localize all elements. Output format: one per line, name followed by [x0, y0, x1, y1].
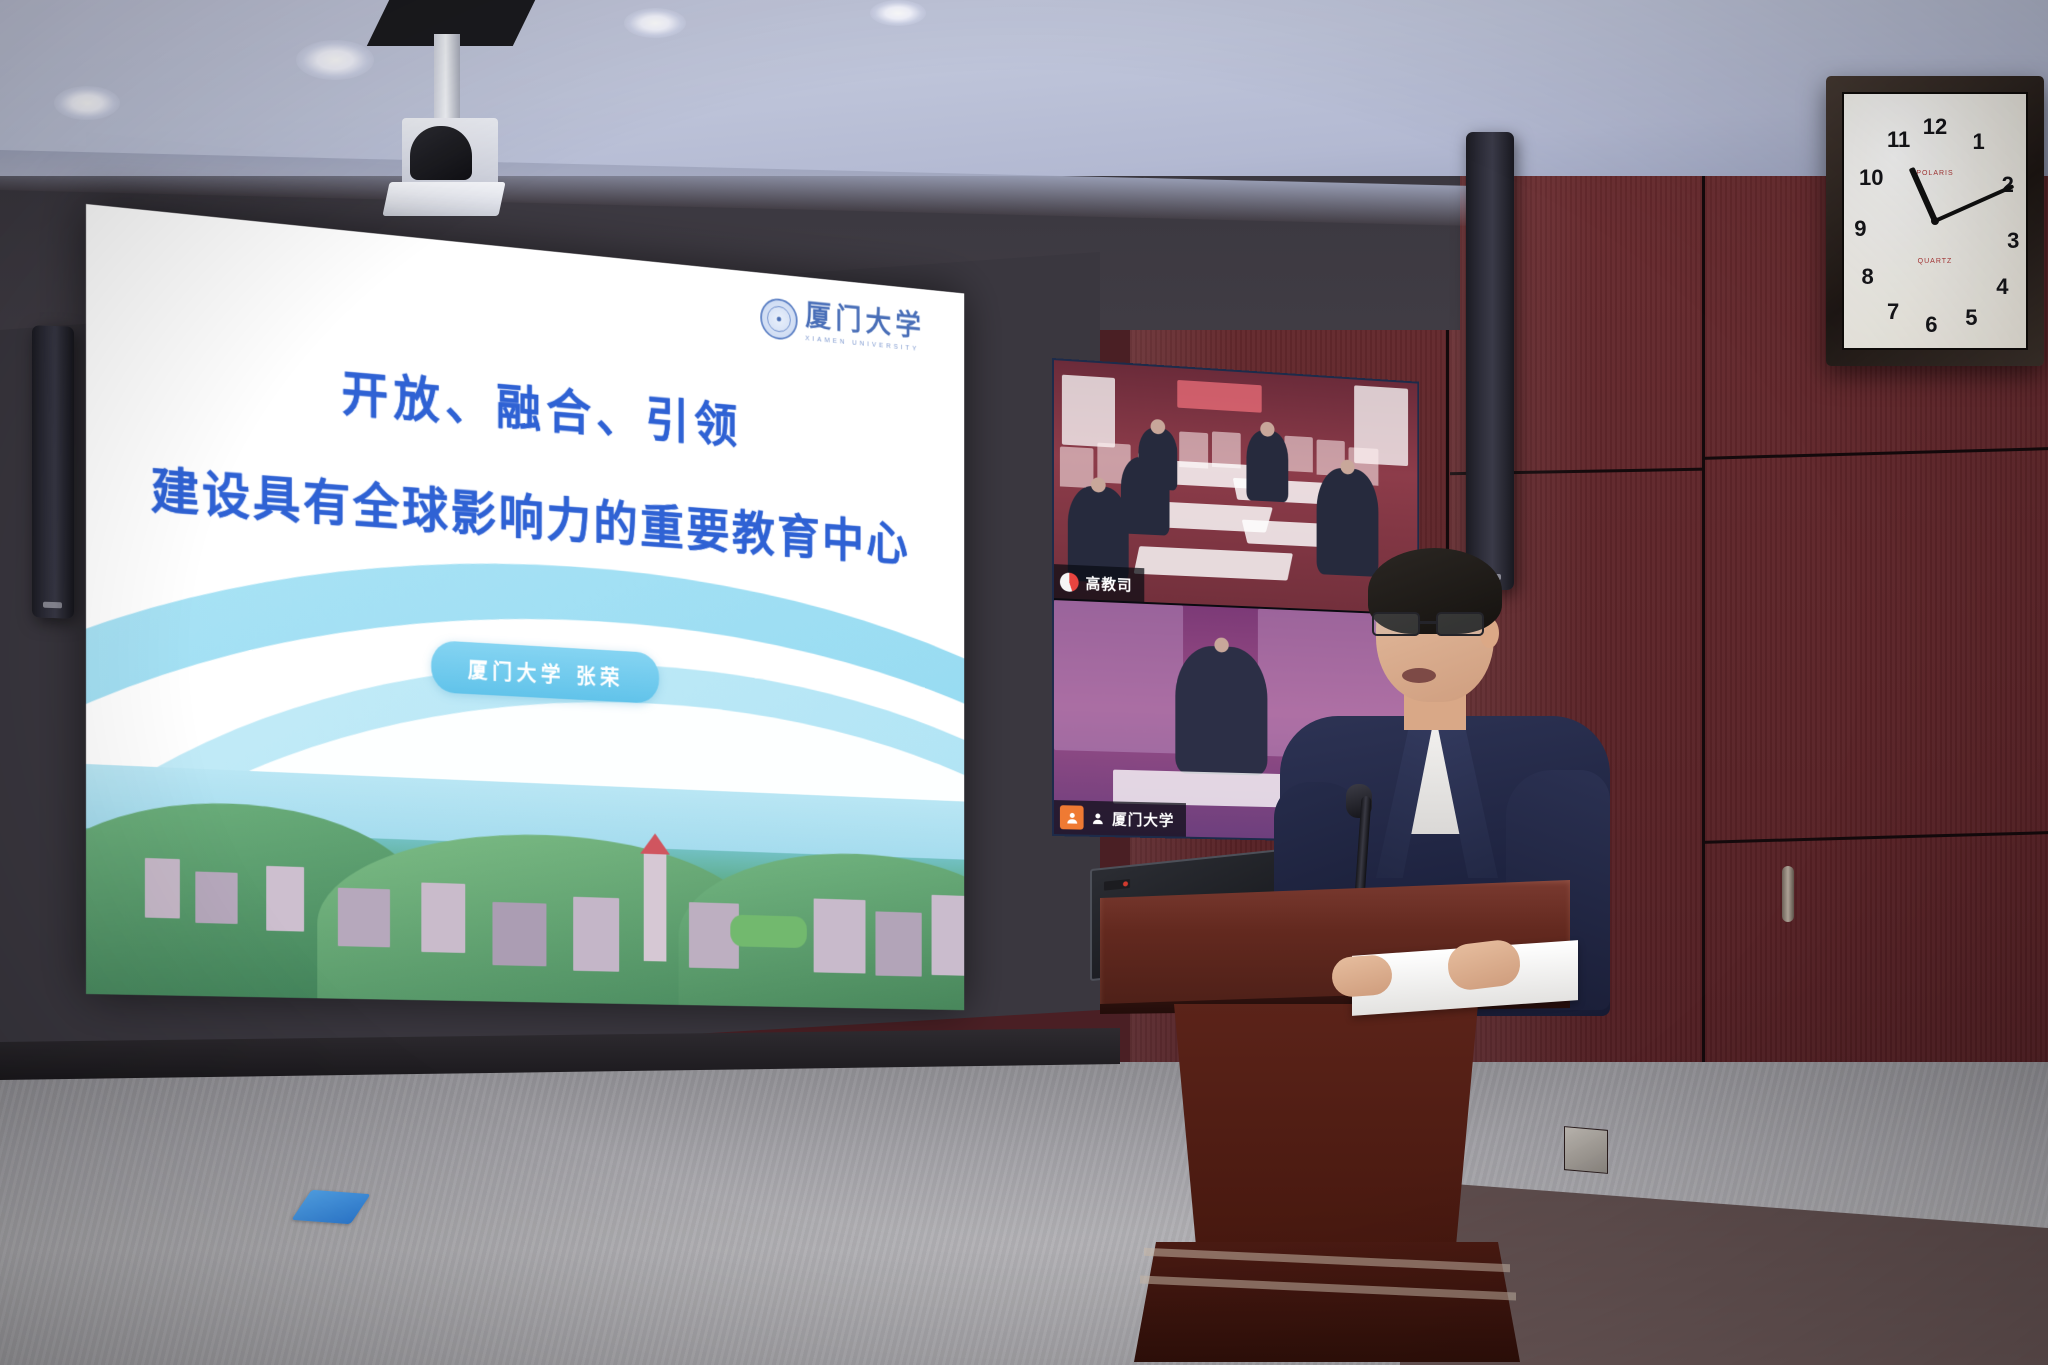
glasses-lens-right [1436, 612, 1484, 636]
participant-silhouette-icon [1064, 810, 1079, 825]
clock-numeral: 11 [1887, 127, 1910, 153]
photo-clock-tower [644, 848, 667, 961]
clock-face: 12 1 2 3 4 5 6 7 8 9 10 11 POLARIS QUART… [1842, 92, 2028, 350]
photo-building [932, 895, 965, 976]
clock-numeral: 6 [1925, 312, 1937, 338]
wall-outlet-plate[interactable] [1564, 1126, 1608, 1174]
presenter-mouth [1402, 668, 1436, 683]
video-panel-top-label: 高教司 [1054, 564, 1144, 602]
clock-numeral: 3 [2007, 228, 2019, 254]
photo-building [814, 898, 866, 973]
clock-numeral: 5 [1965, 305, 1977, 331]
clock-numeral: 10 [1859, 165, 1883, 191]
presenter-glasses-icon [1372, 612, 1496, 636]
clock-numeral: 4 [1996, 274, 2008, 300]
door-handle[interactable] [1782, 866, 1794, 922]
ceiling [0, 0, 2048, 176]
clock-brand-bottom: QUARTZ [1918, 257, 1953, 266]
vc-table [1134, 546, 1293, 580]
ceiling-downlight [296, 40, 374, 80]
vc-chair [1284, 436, 1312, 473]
ceiling-downlight [870, 0, 926, 26]
organization-logo-icon [1060, 572, 1079, 592]
glasses-lens-left [1372, 612, 1420, 636]
photo-building [266, 866, 304, 932]
projection-screen: 厦门大学 XIAMEN UNIVERSITY 开放、融合、引领 建设具有全球影响… [86, 204, 964, 1010]
ceiling-downlight [54, 86, 120, 120]
video-panel-top-name: 高教司 [1086, 572, 1133, 595]
vc-chair [1060, 446, 1094, 488]
photo-building [338, 888, 390, 948]
glasses-bridge [1420, 621, 1436, 624]
clock-brand-top: POLARIS [1916, 170, 1953, 177]
campus-photo [86, 764, 964, 1010]
projector-pole [434, 34, 460, 126]
projector-lens-icon [410, 126, 472, 180]
clock-numeral: 1 [1973, 129, 1985, 155]
projector-body [402, 118, 498, 192]
photo-building [195, 871, 237, 924]
photo-building [875, 911, 921, 976]
vc-participant [1138, 427, 1177, 491]
clock-numeral: 7 [1887, 299, 1899, 325]
wall-clock: 12 1 2 3 4 5 6 7 8 9 10 11 POLARIS QUART… [1826, 76, 2044, 366]
clock-numeral: 9 [1854, 216, 1866, 242]
clock-minute-hand [1934, 184, 2014, 223]
video-panel-bottom-label: 厦门大学 [1054, 800, 1186, 837]
photo-sports-field [730, 915, 807, 949]
right-line-array-speaker [1466, 132, 1514, 590]
speaker-active-icon [1060, 805, 1084, 829]
vc-remote-speaker [1175, 645, 1267, 776]
photo-building [145, 858, 180, 919]
vc-participant [1246, 429, 1288, 502]
projector-base [382, 182, 505, 216]
clock-numeral: 8 [1862, 264, 1874, 290]
clock-numeral: 12 [1923, 114, 1947, 140]
video-panel-bottom-name: 厦门大学 [1112, 808, 1174, 830]
slide-surface: 厦门大学 XIAMEN UNIVERSITY 开放、融合、引领 建设具有全球影响… [86, 204, 964, 1010]
vc-backdrop-panel [1054, 600, 1183, 754]
photo-building [421, 883, 465, 953]
photo-tower-roof [640, 833, 670, 855]
participant-icon [1090, 810, 1105, 825]
conference-hall-scene: 12 1 2 3 4 5 6 7 8 9 10 11 POLARIS QUART… [0, 0, 2048, 1365]
university-seal-icon [760, 297, 797, 341]
ceiling-downlight [624, 8, 686, 38]
left-line-array-speaker [32, 325, 74, 618]
ceiling-projector-mount [378, 0, 538, 216]
clock-center-pin [1931, 217, 1939, 225]
podium-body [1156, 1004, 1496, 1246]
photo-building [573, 897, 619, 972]
photo-building [492, 902, 546, 966]
vc-wall-screen [1062, 375, 1115, 448]
vc-banner [1177, 380, 1261, 413]
